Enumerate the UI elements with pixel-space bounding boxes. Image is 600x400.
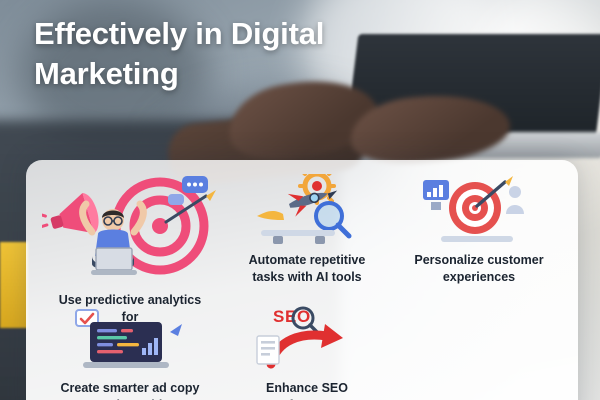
tile-enhance-seo[interactable]: S E O [224,302,390,400]
headline-line-1: Effectively in Digital [34,14,454,54]
laptop-code-chart-icon [42,302,218,376]
rocket-gear-magnifier-icon [224,174,390,248]
tile-caption: Personalize customer experiences [404,252,554,286]
page-title: Effectively in Digital Marketing [34,14,454,93]
laptop-code-chart-svg [66,302,194,376]
headline-line-2: Marketing [34,54,454,94]
tips-card: Automate repetitive tasks with AI tools [26,160,578,400]
background-yellow-folder [0,242,28,328]
tile-smarter-ad-copy[interactable]: Create smarter ad copy or sites with [42,302,218,400]
tile-caption: Enhance SEO performance [232,380,382,400]
tile-caption: Create smarter ad copy or sites with [55,380,205,400]
tips-grid: Automate repetitive tasks with AI tools [26,160,578,400]
target-dartboard-svg [415,174,543,248]
tile-automate-tasks[interactable]: Automate repetitive tasks with AI tools [224,174,390,302]
poster: Effectively in Digital Marketing [0,0,600,400]
rocket-gear-magnifier-svg [243,174,371,248]
person-laptop-megaphone-target-svg [42,174,218,300]
target-dartboard-icon [396,174,562,248]
seo-magnifier-arrow-icon: S E O [224,302,390,376]
tile-predictive-analytics[interactable]: Use predictive analytics for [42,174,218,302]
seo-magnifier-arrow-svg: S E O [243,302,371,376]
tile-caption: Automate repetitive tasks with AI tools [232,252,382,286]
tile-personalize-experience[interactable]: Personalize customer experiences [396,174,562,302]
seo-letter-s: S [273,307,284,326]
person-laptop-megaphone-target-icon [42,174,218,294]
